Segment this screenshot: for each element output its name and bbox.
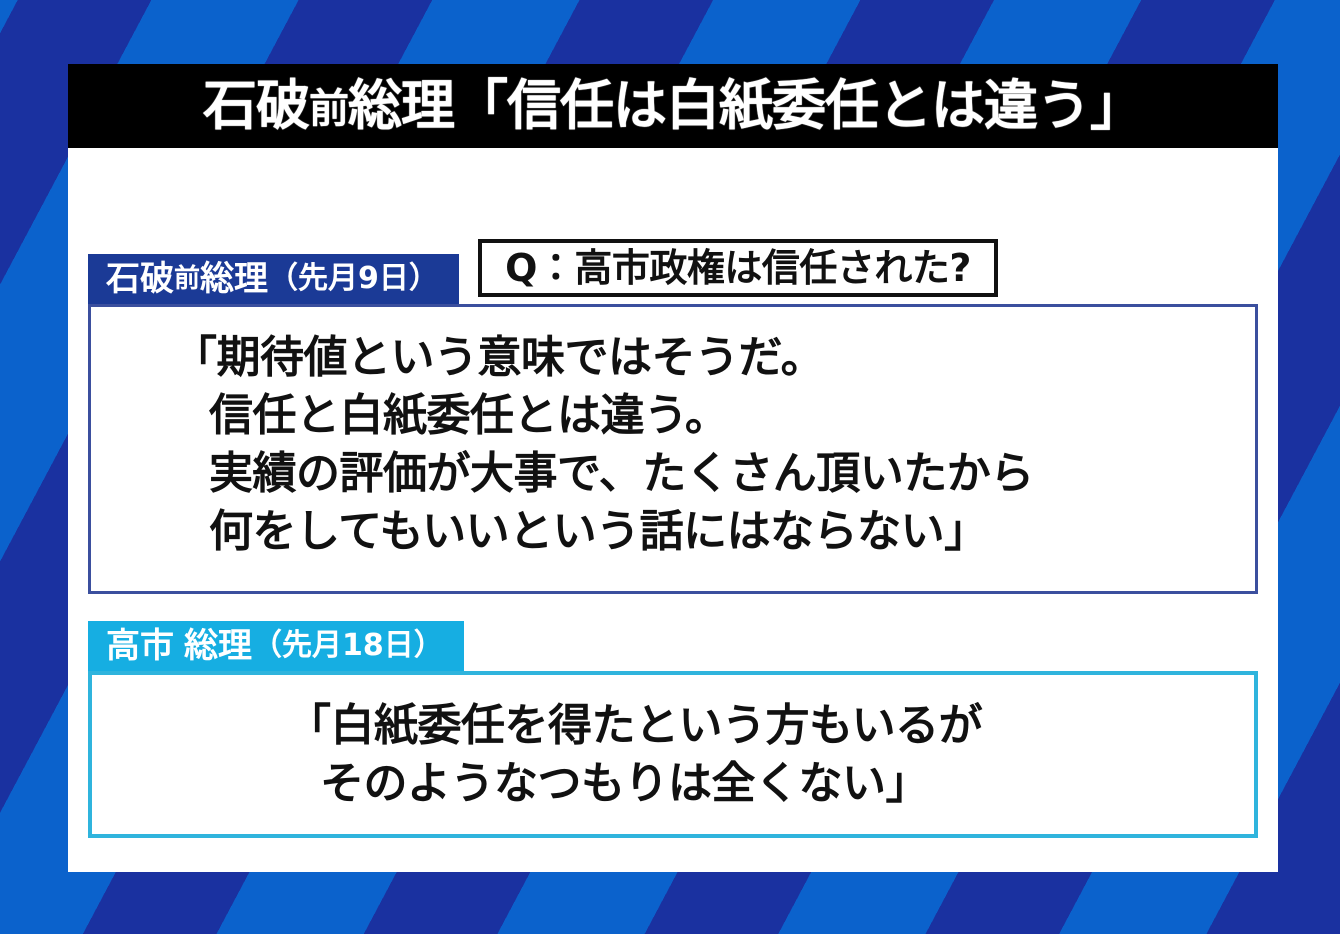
news-graphic-stage: 石破前総理「信任は白紙委任とは違う」 Q：高市政権は信任された? 石破前総理（先…	[0, 0, 1340, 934]
quote-line: 実績の評価が大事で、たくさん頂いたから	[91, 445, 1255, 503]
speaker-date-takaichi: （先月18日）	[252, 631, 444, 661]
speaker-tab-ishiba: 石破前総理（先月9日）	[88, 254, 459, 304]
title-part-rest: 総理「信任は白紙委任とは違う」	[348, 74, 1143, 137]
quote-line: 「期待値という意味ではそうだ。	[91, 329, 1255, 387]
speaker-name-takaichi: 高市	[106, 629, 174, 663]
quote-line: 信任と白紙委任とは違う。	[91, 387, 1255, 445]
content-card: 石破前総理「信任は白紙委任とは違う」 Q：高市政権は信任された? 石破前総理（先…	[68, 64, 1278, 872]
speaker-tab-takaichi: 高市総理（先月18日）	[88, 621, 464, 671]
speaker-qualifier-ishiba: 前	[174, 266, 200, 292]
quote-box-takaichi: 「白紙委任を得たという方もいるが そのようなつもりは全くない」	[88, 671, 1258, 838]
speaker-block-ishiba: 石破前総理（先月9日） 「期待値という意味ではそうだ。 信任と白紙委任とは違う。…	[88, 254, 1258, 594]
speaker-title-takaichi: 総理	[184, 629, 252, 663]
quote-box-ishiba: 「期待値という意味ではそうだ。 信任と白紙委任とは違う。 実績の評価が大事で、た…	[88, 304, 1258, 594]
speaker-name-ishiba: 石破	[106, 262, 174, 296]
title-part-qualifier: 前	[309, 86, 348, 132]
page-title: 石破前総理「信任は白紙委任とは違う」	[203, 79, 1143, 133]
speaker-block-takaichi: 高市総理（先月18日） 「白紙委任を得たという方もいるが そのようなつもりは全く…	[88, 621, 1258, 838]
quote-line: 「白紙委任を得たという方もいるが	[92, 697, 1254, 755]
quote-line: 何をしてもいいという話にはならない」	[91, 503, 1255, 561]
title-part-name: 石破	[203, 74, 309, 137]
quote-line: そのようなつもりは全くない」	[92, 755, 1254, 813]
speaker-date-ishiba: （先月9日）	[268, 264, 439, 294]
title-bar: 石破前総理「信任は白紙委任とは違う」	[68, 64, 1278, 148]
speaker-title-ishiba: 総理	[200, 262, 268, 296]
